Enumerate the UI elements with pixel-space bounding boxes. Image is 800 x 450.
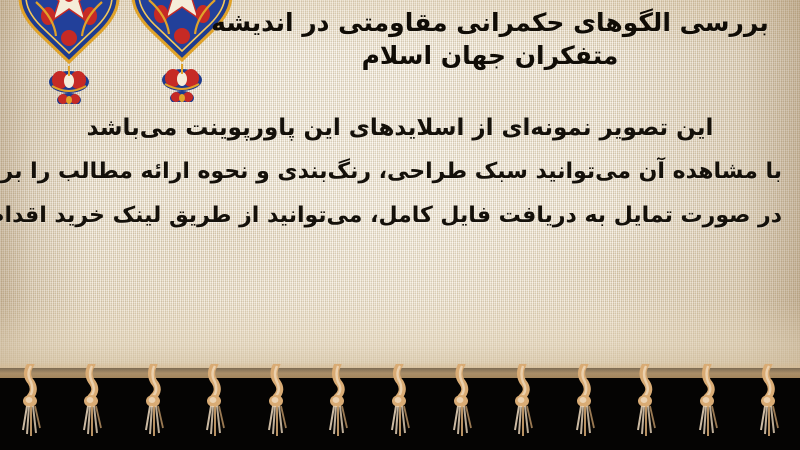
slide-title: بررسی الگوهای حکمرانی مقاومتی در اندیشه … — [200, 6, 780, 72]
tassel — [571, 364, 599, 442]
body-line: این تصویر نمونه‌ای از اسلایدهای این پاور… — [18, 106, 782, 150]
tassel — [140, 364, 168, 442]
tassel — [324, 364, 352, 442]
tassel — [632, 364, 660, 442]
tassel — [201, 364, 229, 442]
tassel — [386, 364, 414, 442]
persian-medallion-ornament-icon — [14, 0, 124, 104]
tassel — [755, 364, 783, 442]
body-line: با مشاهده آن می‌توانید سبک طراحی، رنگ‌بن… — [18, 150, 782, 194]
slide-body: این تصویر نمونه‌ای از اسلایدهای این پاور… — [18, 106, 782, 238]
tassel — [509, 364, 537, 442]
tassel — [448, 364, 476, 442]
tassel — [78, 364, 106, 442]
tassel — [694, 364, 722, 442]
body-line: در صورت تمایل به دریافت فایل کامل، می‌تو… — [18, 194, 782, 238]
presentation-slide: بررسی الگوهای حکمرانی مقاومتی در اندیشه … — [0, 0, 800, 450]
tassel — [263, 364, 291, 442]
tassel — [17, 364, 45, 442]
